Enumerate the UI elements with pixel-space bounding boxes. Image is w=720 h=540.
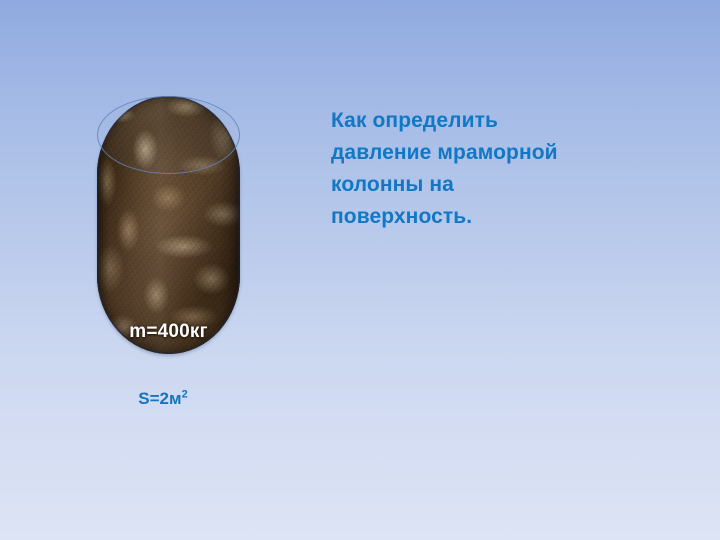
heading-line-4: поверхность. [331,201,621,233]
area-label-text: S=2м [138,389,181,408]
heading-line-1: Как определить [331,105,621,137]
area-label-exponent: 2 [182,388,188,400]
heading-line-3: колонны на [331,169,621,201]
slide-canvas: m=400кг S=2м2 Как определить давление мр… [0,0,720,540]
mass-label: m=400кг [97,321,240,343]
heading-line-2: давление мраморной [331,137,621,169]
page-title: Как определить давление мраморной колонн… [331,105,621,233]
area-label: S=2м2 [98,389,228,409]
marble-column-figure: m=400кг [97,96,240,354]
cylinder-top-ellipse [97,96,240,174]
